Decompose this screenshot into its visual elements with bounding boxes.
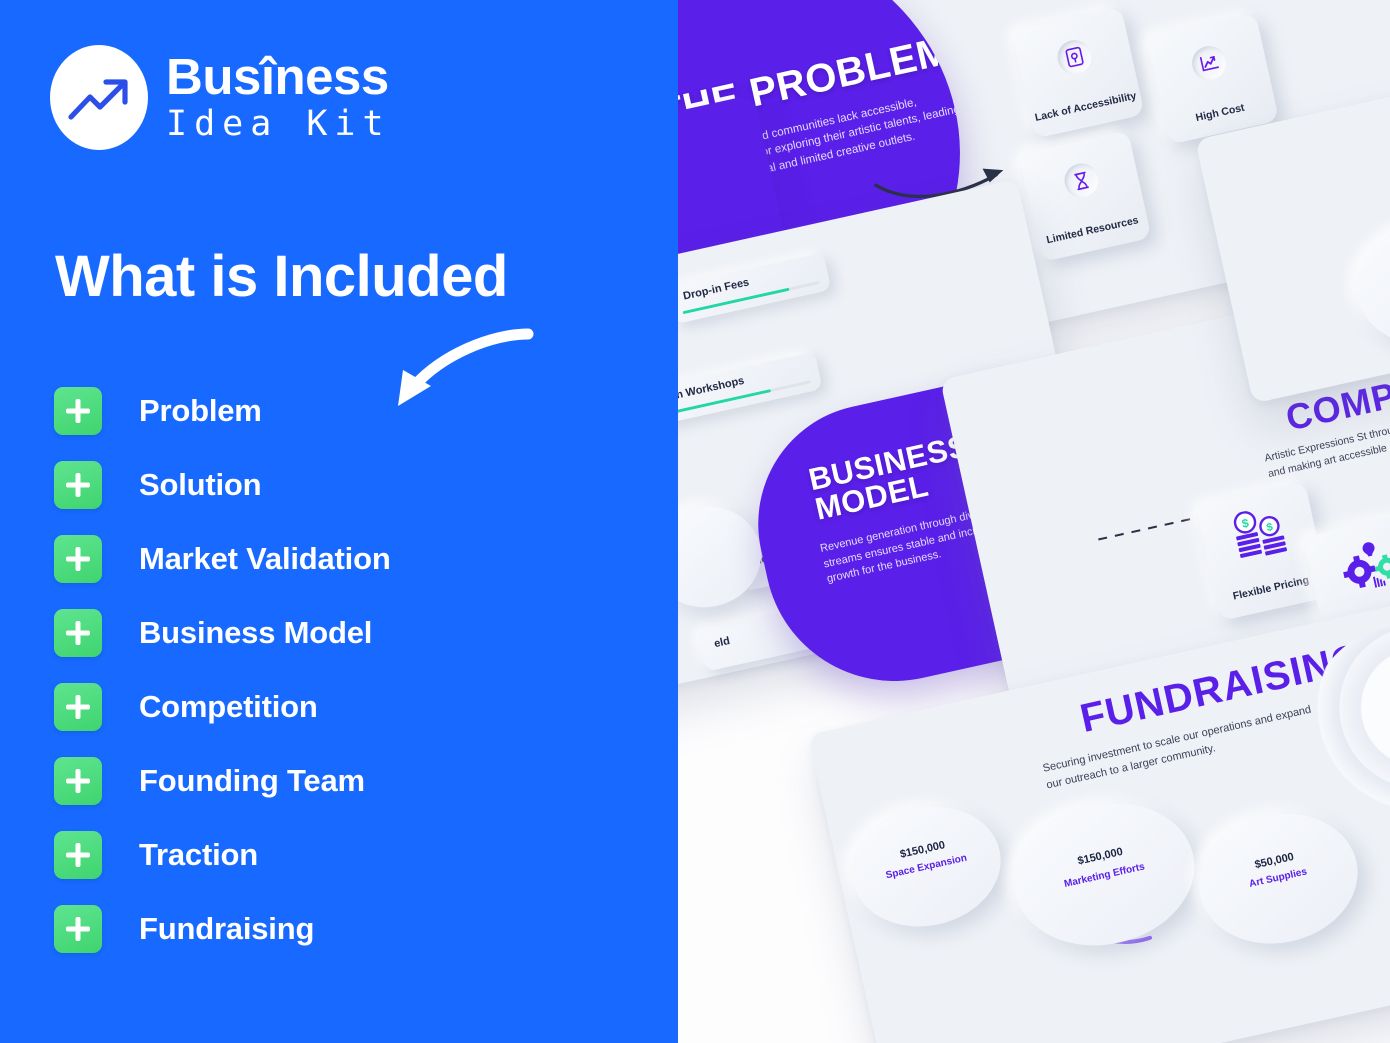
list-item-label: Market Validation [139,541,391,577]
list-item-label: Founding Team [139,763,365,799]
left-info-panel: Busîness Idea Kit What is Included Probl… [0,0,678,1043]
edge-card-blob: Acce Spa [1345,207,1390,359]
list-item[interactable]: Competition [54,682,634,731]
brand-lockup: Busîness Idea Kit [50,45,391,150]
plus-icon [54,831,102,879]
plus-icon [54,461,102,509]
plus-icon [54,905,102,953]
problem-card-accessibility[interactable]: Lack of Accessibility [1011,7,1144,139]
list-item[interactable]: Solution [54,460,634,509]
brand-name-line2: Idea Kit [166,104,391,144]
list-item[interactable]: Traction [54,830,634,879]
problem-card-label: Lack of Accessibility [1030,89,1142,125]
traction-pill-label: eld [713,635,731,650]
chart-up-icon [1189,43,1230,84]
plus-icon [54,757,102,805]
list-item-label: Solution [139,467,261,503]
poster-canvas: THE PROBLEM Many individuals and communi… [0,0,1390,1043]
growth-chart-arrow-icon [68,73,130,123]
list-item-label: Fundraising [139,911,314,947]
list-item[interactable]: Fundraising [54,904,634,953]
brand-text: Busîness Idea Kit [166,51,391,144]
list-item-label: Traction [139,837,258,873]
list-item[interactable]: Market Validation [54,534,634,583]
hourglass-icon [1061,160,1102,201]
plus-icon [54,609,102,657]
plus-icon [54,535,102,583]
plus-icon [54,683,102,731]
page-title: What is Included [55,248,508,306]
money-stack-icon: $ $ [1225,503,1294,571]
list-item[interactable]: Problem [54,386,634,435]
traction-pill[interactable]: Drop-in Fees [667,252,831,324]
locked-document-icon [1054,37,1095,78]
list-item-label: Problem [139,393,262,429]
brand-name-line1: Busîness [166,51,391,102]
traction-pill[interactable]: on Workshops [653,352,822,425]
included-list: Problem Solution Market Validation Busin… [54,386,634,978]
list-item-label: Business Model [139,615,372,651]
problem-card-label: Limited Resources [1036,212,1148,248]
edge-card-label: Acce Spa [1359,240,1390,313]
list-item[interactable]: Business Model [54,608,634,657]
competition-card-label: Flexible Pricing [1215,570,1327,606]
plus-icon [54,387,102,435]
logo-circle [50,45,148,150]
list-item[interactable]: Founding Team [54,756,634,805]
problem-card-resources[interactable]: Limited Resources [1018,130,1151,262]
list-item-label: Competition [139,689,318,725]
gears-idea-icon [1333,533,1390,604]
